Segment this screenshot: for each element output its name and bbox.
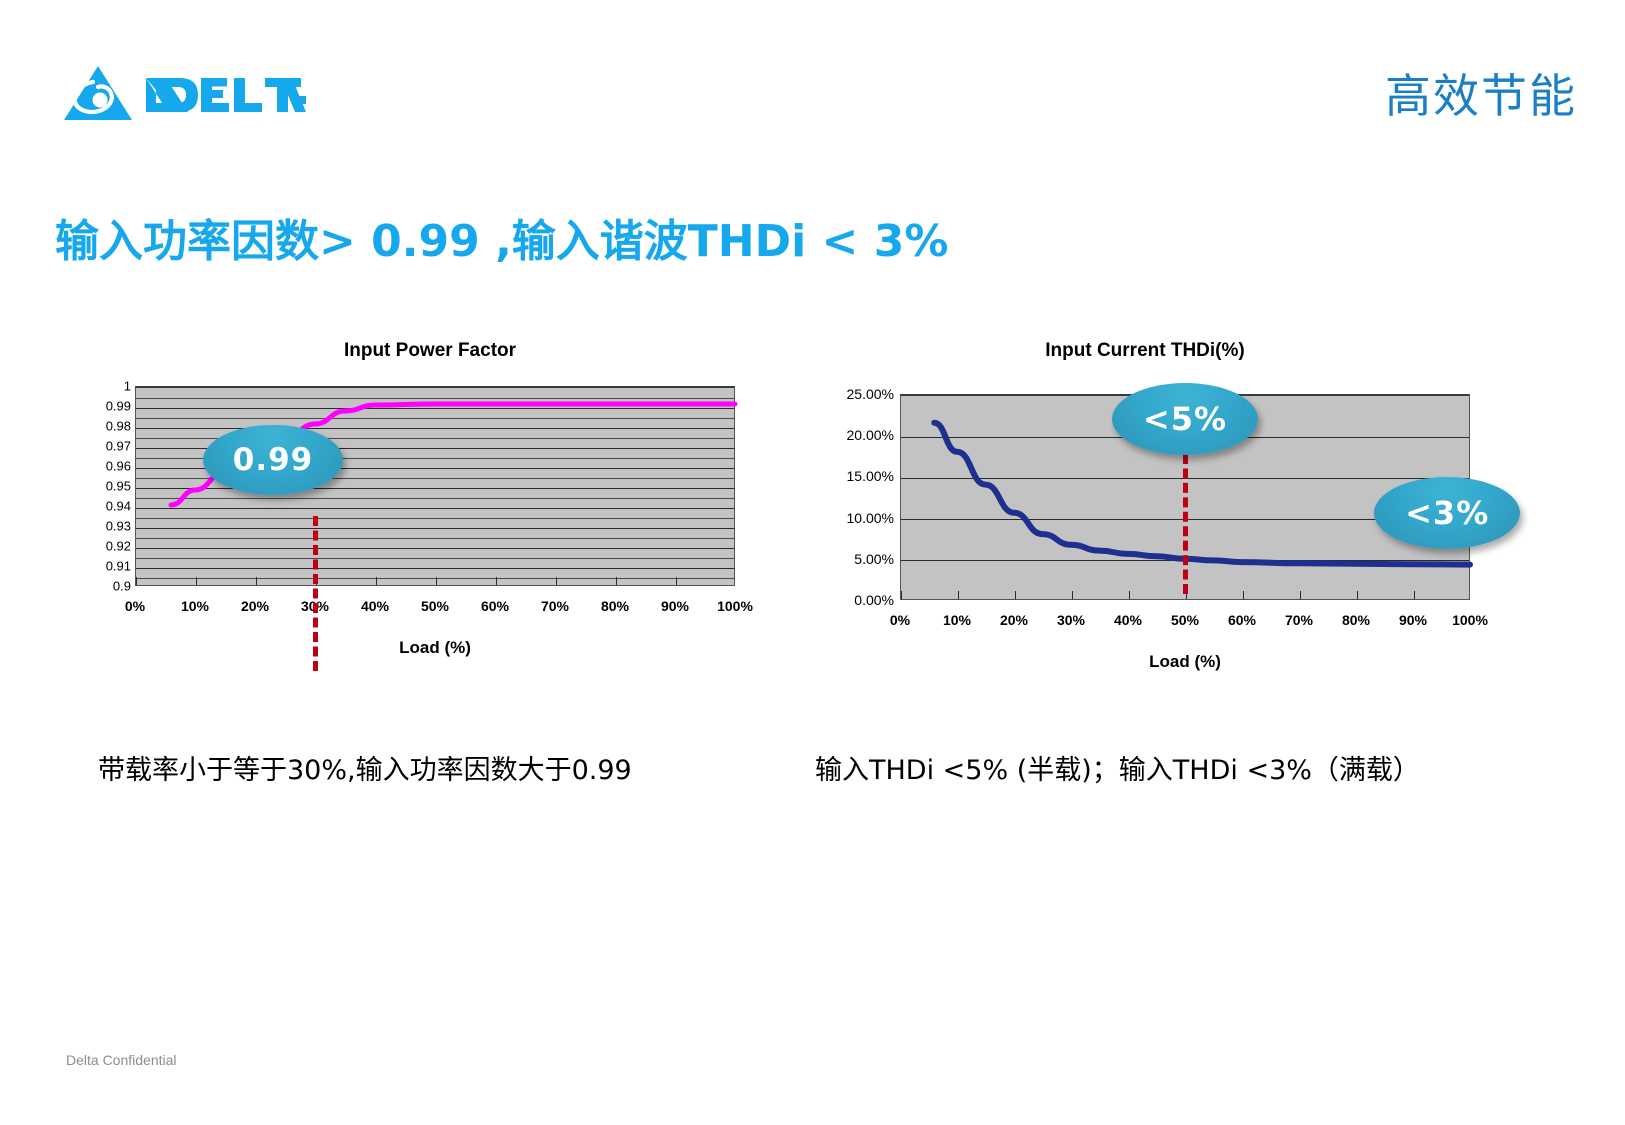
y-axis-tick-label: 0.96	[21, 459, 131, 474]
x-axis-tick-label: 90%	[661, 598, 689, 614]
x-axis-tick-label: 50%	[421, 598, 449, 614]
caption-left: 带载率小于等于30%,输入功率因数大于0.99	[98, 748, 632, 787]
y-axis-tick-label: 0.97	[21, 439, 131, 454]
x-axis-tick-label: 40%	[1114, 612, 1142, 628]
chart-input-current-thdi: Input Current THDi(%) 25.00%20.00%15.00%…	[800, 340, 1490, 706]
marker-30-percent	[313, 516, 318, 671]
y-axis-tick-label: 0.98	[21, 419, 131, 434]
marker-50-percent	[1183, 454, 1188, 594]
x-axis-tick-label: 30%	[1057, 612, 1085, 628]
caption-right: 输入THDi <5% (半载)；输入THDi <3%（满载）	[815, 748, 1420, 787]
header-slogan: 高效节能	[1385, 60, 1577, 126]
y-axis-tick-label: 0.91	[21, 559, 131, 574]
y-axis-tick-label: 0.95	[21, 479, 131, 494]
chart-title-right: Input Current THDi(%)	[800, 340, 1490, 362]
y-axis-tick-label: 20.00%	[784, 427, 894, 443]
x-axis-title: Load (%)	[399, 638, 471, 658]
x-axis-tick-label: 20%	[241, 598, 269, 614]
x-axis-tick-label: 70%	[541, 598, 569, 614]
plot-wrap-right: 25.00%20.00%15.00%10.00%5.00%0.00%0%10%2…	[800, 376, 1490, 706]
x-axis-tick-label: 10%	[943, 612, 971, 628]
x-axis-tick-label: 60%	[1228, 612, 1256, 628]
y-axis-tick-label: 0.99	[21, 399, 131, 414]
y-axis-tick-label: 5.00%	[784, 551, 894, 567]
page-title: 输入功率因数> 0.99 ,输入谐波THDi < 3%	[55, 205, 948, 269]
x-axis-title: Load (%)	[1149, 652, 1221, 672]
y-axis-tick-label: 0.94	[21, 499, 131, 514]
chart-input-power-factor: Input Power Factor 10.990.980.970.960.95…	[75, 340, 765, 706]
x-axis-tick-label: 80%	[1342, 612, 1370, 628]
x-axis-tick-label: 100%	[1452, 612, 1488, 628]
plot-wrap-left: 10.990.980.970.960.950.940.930.920.910.9…	[75, 376, 765, 706]
y-axis-tick-label: 0.92	[21, 539, 131, 554]
y-axis-tick-label: 0.9	[21, 579, 131, 594]
x-axis-tick-label: 90%	[1399, 612, 1427, 628]
y-axis-tick-label: 0.93	[21, 519, 131, 534]
footer-confidential-note: Delta Confidential	[66, 1052, 177, 1068]
x-axis-tick-label: 20%	[1000, 612, 1028, 628]
y-axis-tick-label: 15.00%	[784, 468, 894, 484]
x-axis-tick-label: 10%	[181, 598, 209, 614]
callout-099[interactable]: 0.99	[203, 425, 343, 495]
x-axis-tick-label: 40%	[361, 598, 389, 614]
x-axis-tick-label: 60%	[481, 598, 509, 614]
x-axis-tick-label: 70%	[1285, 612, 1313, 628]
callout-lt3[interactable]: <3%	[1374, 477, 1520, 549]
x-axis-tick-label: 0%	[125, 598, 145, 614]
delta-logo	[60, 62, 310, 124]
x-axis-tick-label: 0%	[890, 612, 910, 628]
x-axis-tick-label: 80%	[601, 598, 629, 614]
x-axis-tick-label: 100%	[717, 598, 753, 614]
callout-lt5[interactable]: <5%	[1112, 383, 1258, 455]
x-axis-tick-label: 50%	[1171, 612, 1199, 628]
y-axis-tick-label: 1	[21, 379, 131, 394]
y-axis-tick-label: 10.00%	[784, 510, 894, 526]
y-axis-tick-label: 25.00%	[784, 386, 894, 402]
y-axis-tick-label: 0.00%	[784, 592, 894, 608]
chart-title-left: Input Power Factor	[75, 340, 765, 362]
